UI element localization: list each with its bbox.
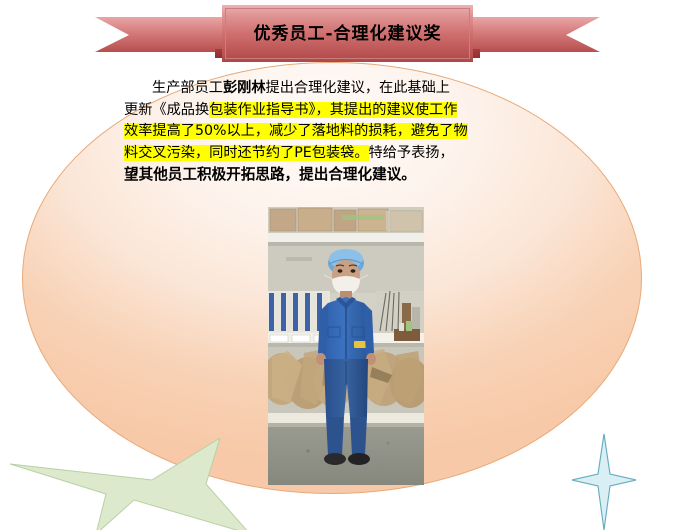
employee-photo bbox=[268, 207, 424, 485]
text-segment-highlighted: 包装作业指导书》，其提出的建议使工作 bbox=[209, 102, 457, 118]
text-line-3: 效率提高了50%以上，减少了落地料的损耗，避免了物 bbox=[124, 121, 528, 143]
text-segment-bold: 望其他员工积极开拓思路，提出合理化建议。 bbox=[124, 166, 416, 183]
text-segment: 更新《成品换 bbox=[124, 102, 209, 118]
text-line-5: 望其他员工积极开拓思路，提出合理化建议。 bbox=[124, 164, 528, 186]
green-star-shape bbox=[10, 438, 250, 530]
slide-canvas: 优秀员工-合理化建议奖 生产部员工彭刚林提出合理化建议，在此基础上 更新《成品换… bbox=[0, 0, 690, 530]
award-ribbon-banner: 优秀员工-合理化建议奖 bbox=[95, 5, 600, 63]
blue-sparkle-shape bbox=[572, 434, 636, 530]
text-segment: 生产部员工 bbox=[152, 80, 223, 96]
text-segment: 提出合理化建议，在此基础上 bbox=[266, 80, 450, 96]
award-description-text: 生产部员工彭刚林提出合理化建议，在此基础上 更新《成品换包装作业指导书》，其提出… bbox=[124, 78, 528, 186]
green-star-decoration bbox=[10, 438, 250, 530]
banner-title: 优秀员工-合理化建议奖 bbox=[253, 26, 441, 43]
text-line-1: 生产部员工彭刚林提出合理化建议，在此基础上 bbox=[124, 78, 528, 100]
employee-name: 彭刚林 bbox=[223, 80, 266, 96]
text-line-4: 料交叉污染，同时还节约了PE包装袋。特给予表扬， bbox=[124, 143, 528, 165]
text-segment: 特给予表扬， bbox=[369, 145, 454, 161]
text-line-2: 更新《成品换包装作业指导书》，其提出的建议使工作 bbox=[124, 100, 528, 122]
text-segment-highlighted: 料交叉污染，同时还节约了PE包装袋。 bbox=[124, 145, 369, 161]
blue-sparkle-decoration bbox=[572, 424, 688, 530]
text-segment-highlighted: 效率提高了50%以上，减少了落地料的损耗，避免了物 bbox=[124, 123, 468, 139]
